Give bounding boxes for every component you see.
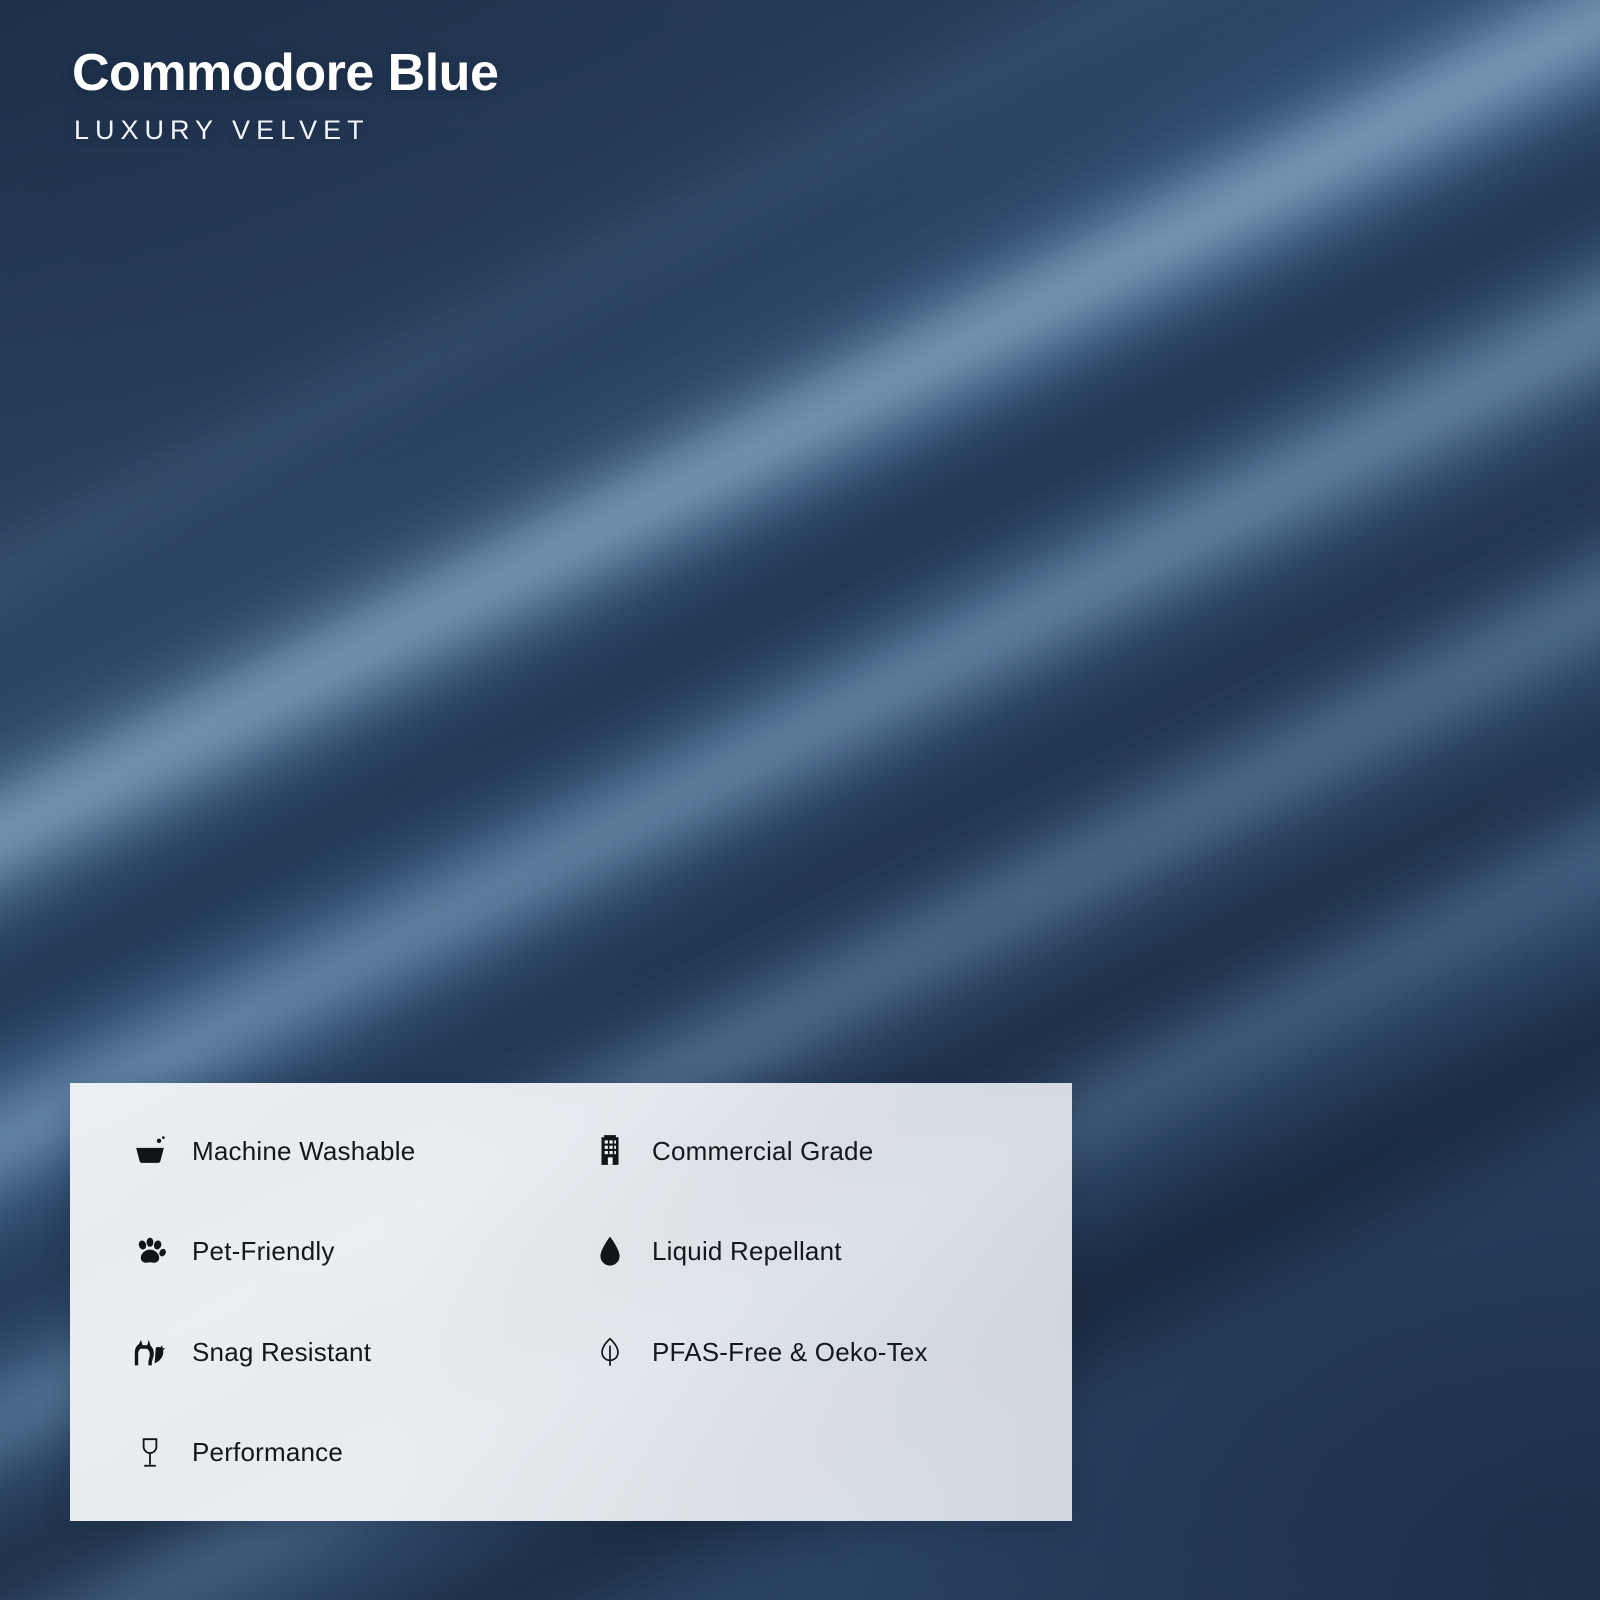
water-droplet-icon: [590, 1232, 630, 1272]
feature-label: Performance: [192, 1437, 343, 1468]
page-title: Commodore Blue: [72, 46, 498, 101]
machine-wash-icon: [130, 1131, 170, 1171]
paw-print-icon: [130, 1232, 170, 1272]
heading-block: Commodore Blue LUXURY VELVET: [72, 46, 498, 146]
feature-item-commercial-grade: Commercial Grade: [590, 1101, 1072, 1202]
feature-item-liquid-repellant: Liquid Repellant: [590, 1202, 1072, 1303]
feature-label: Liquid Repellant: [652, 1236, 842, 1267]
feature-item-performance: Performance: [70, 1403, 590, 1504]
feature-item-pfas-free-oeko-tex: PFAS-Free & Oeko-Tex: [590, 1302, 1072, 1403]
feature-item-machine-washable: Machine Washable: [70, 1101, 590, 1202]
feature-label: PFAS-Free & Oeko-Tex: [652, 1337, 928, 1368]
fabric-swatch-card: Commodore Blue LUXURY VELVET Machine Was…: [0, 0, 1600, 1600]
building-icon: [590, 1131, 630, 1171]
wine-glass-icon: [130, 1433, 170, 1473]
feature-item-snag-resistant: Snag Resistant: [70, 1302, 590, 1403]
feature-label: Machine Washable: [192, 1136, 415, 1167]
feature-label: Pet-Friendly: [192, 1236, 335, 1267]
feature-item-pet-friendly: Pet-Friendly: [70, 1202, 590, 1303]
cat-icon: [130, 1332, 170, 1372]
feature-label: Snag Resistant: [192, 1337, 371, 1368]
feature-label: Commercial Grade: [652, 1136, 873, 1167]
feature-panel: Machine Washable Commercial Grade: [70, 1083, 1072, 1521]
leaf-icon: [590, 1332, 630, 1372]
page-subtitle: LUXURY VELVET: [74, 115, 498, 146]
